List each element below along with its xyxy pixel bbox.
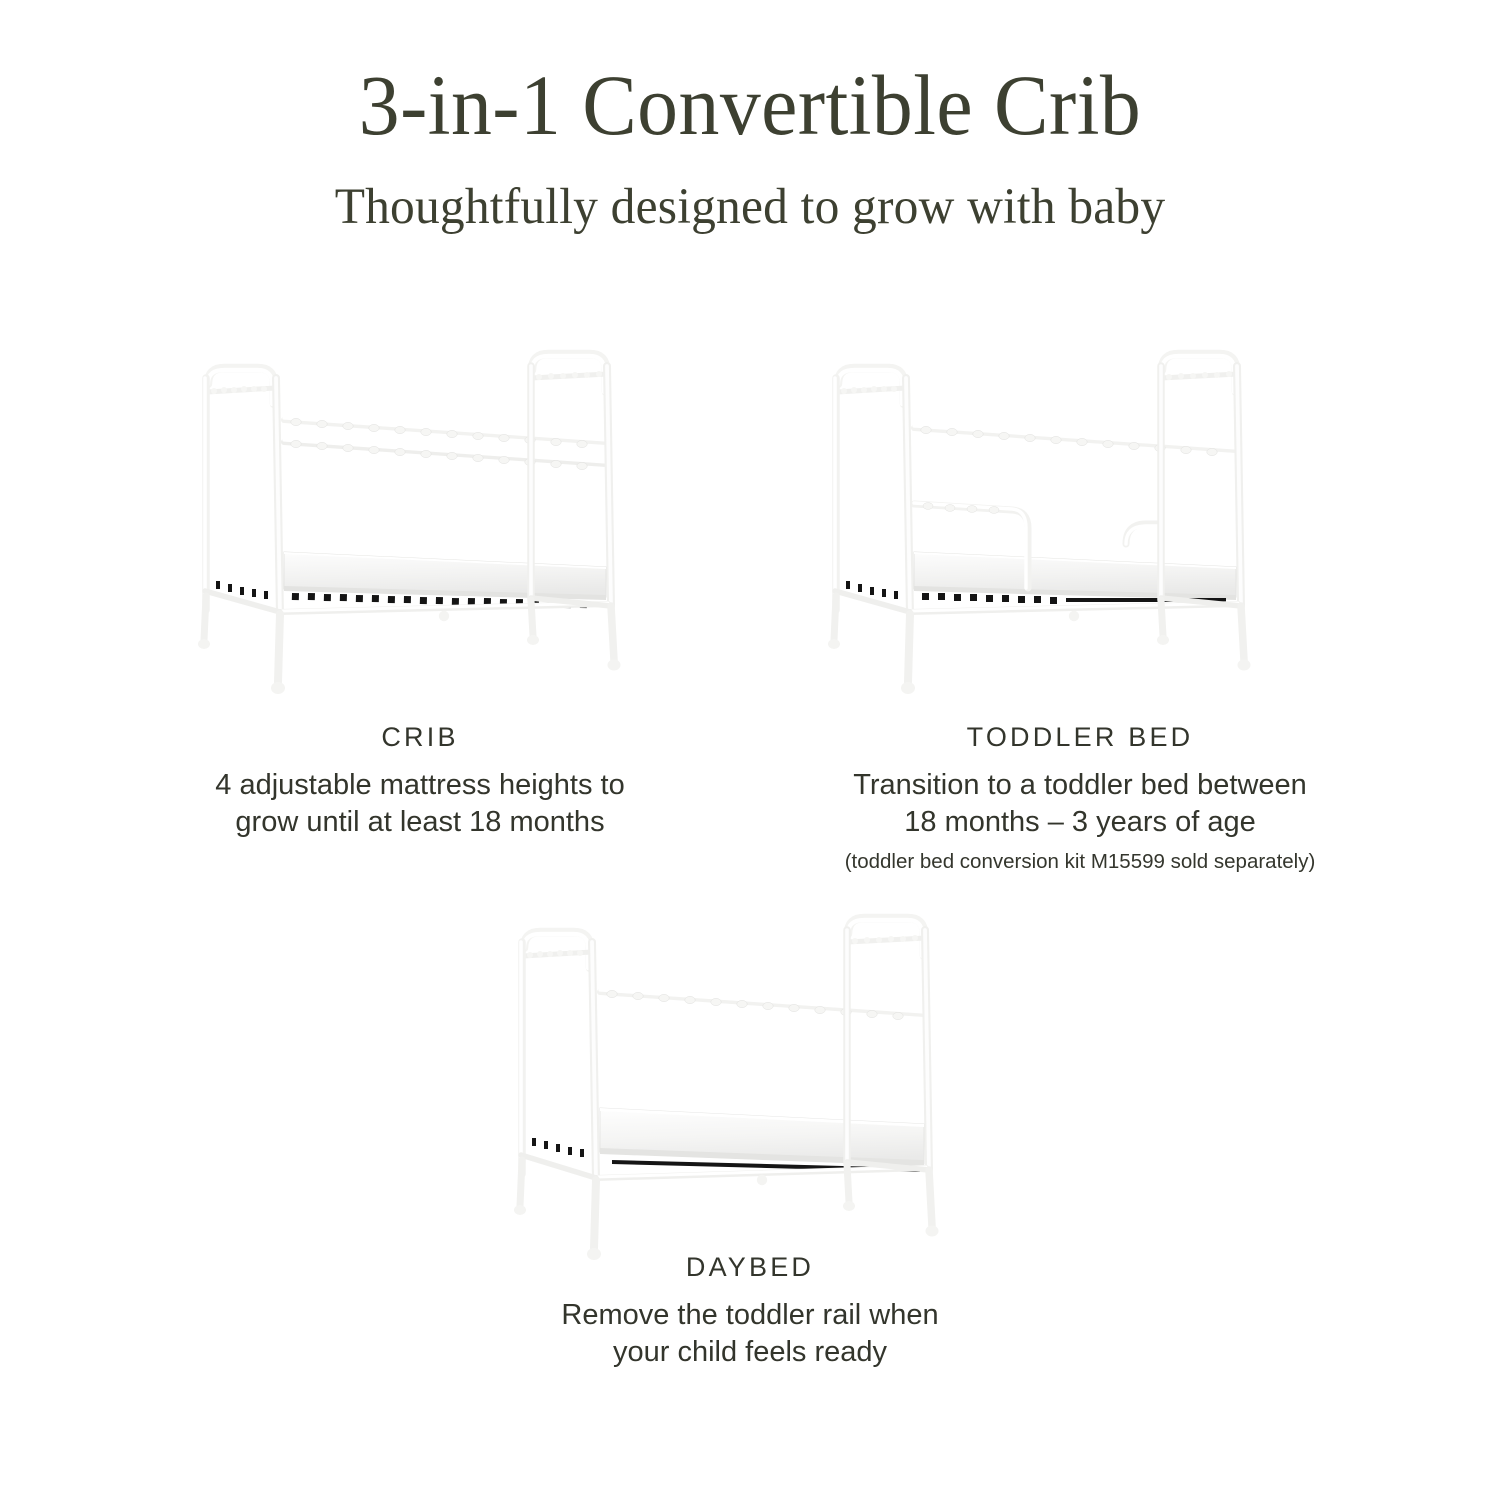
mode-label-toddler-bed: TODDLER BED	[760, 722, 1400, 753]
crib-frame	[198, 354, 621, 694]
toddler-desc-line-2: 18 months – 3 years of age	[904, 806, 1255, 838]
toddler-left-end-panel	[835, 368, 910, 616]
crib-desc-line-2: grow until at least 18 months	[235, 806, 604, 838]
mode-description-daybed: Remove the toddler rail when your child …	[430, 1297, 1070, 1371]
infographic-page: 3-in-1 Convertible Crib Thoughtfully des…	[0, 0, 1500, 1500]
caption-crib: CRIB 4 adjustable mattress heights to gr…	[100, 722, 740, 841]
toddler-bed-frame	[828, 354, 1251, 694]
toddler-bed-illustration	[816, 348, 1296, 708]
mode-description-crib: 4 adjustable mattress heights to grow un…	[100, 767, 740, 841]
daybed-desc-line-1: Remove the toddler rail when	[561, 1299, 938, 1331]
mode-label-daybed: DAYBED	[430, 1252, 1070, 1283]
toddler-desc-line-1: Transition to a toddler bed between	[853, 769, 1307, 801]
crib-illustration	[186, 348, 666, 708]
caption-toddler-bed: TODDLER BED Transition to a toddler bed …	[760, 722, 1400, 876]
mode-label-crib: CRIB	[100, 722, 740, 753]
daybed-desc-line-2: your child feels ready	[613, 1336, 887, 1368]
toddler-bed-conversion-kit-note: (toddler bed conversion kit M15599 sold …	[760, 849, 1400, 876]
crib-left-end-panel	[205, 368, 280, 616]
mode-description-toddler-bed: Transition to a toddler bed between 18 m…	[760, 767, 1400, 841]
crib-desc-line-1: 4 adjustable mattress heights to	[215, 769, 624, 801]
daybed-frame	[514, 918, 939, 1260]
daybed-illustration	[500, 908, 990, 1276]
caption-daybed: DAYBED Remove the toddler rail when your…	[430, 1252, 1070, 1371]
header: 3-in-1 Convertible Crib Thoughtfully des…	[0, 62, 1500, 233]
page-subtitle: Thoughtfully designed to grow with baby	[23, 182, 1478, 233]
page-title: 3-in-1 Convertible Crib	[38, 62, 1463, 148]
